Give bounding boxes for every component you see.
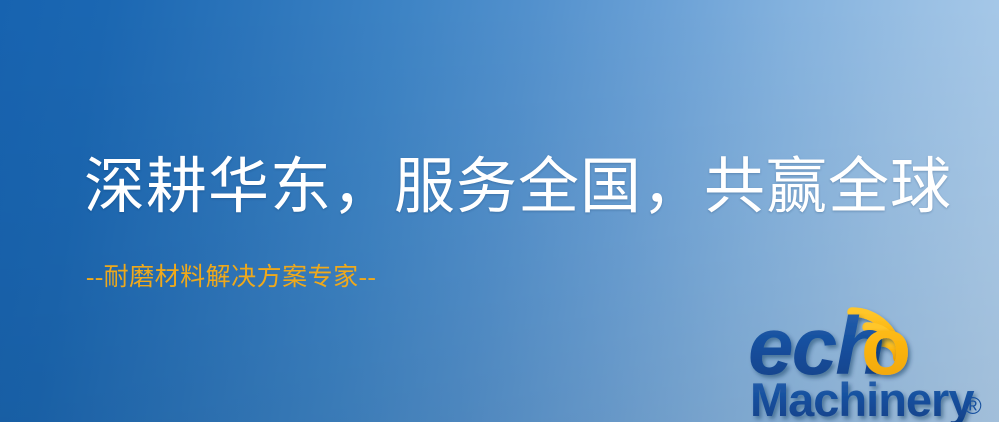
logo-trademark-symbol: ® xyxy=(964,393,982,420)
echo-machinery-logo: ech o Machinery ® xyxy=(748,296,999,422)
logo-subname: Machinery xyxy=(750,373,974,422)
promo-banner: 深耕华东，服务全国，共赢全球 --耐磨材料解决方案专家-- xyxy=(0,0,999,422)
page-title: 深耕华东，服务全国，共赢全球 xyxy=(84,153,952,223)
logo-artwork: ech o Machinery ® xyxy=(748,296,999,422)
banner-subtitle: --耐磨材料解决方案专家-- xyxy=(86,263,376,293)
